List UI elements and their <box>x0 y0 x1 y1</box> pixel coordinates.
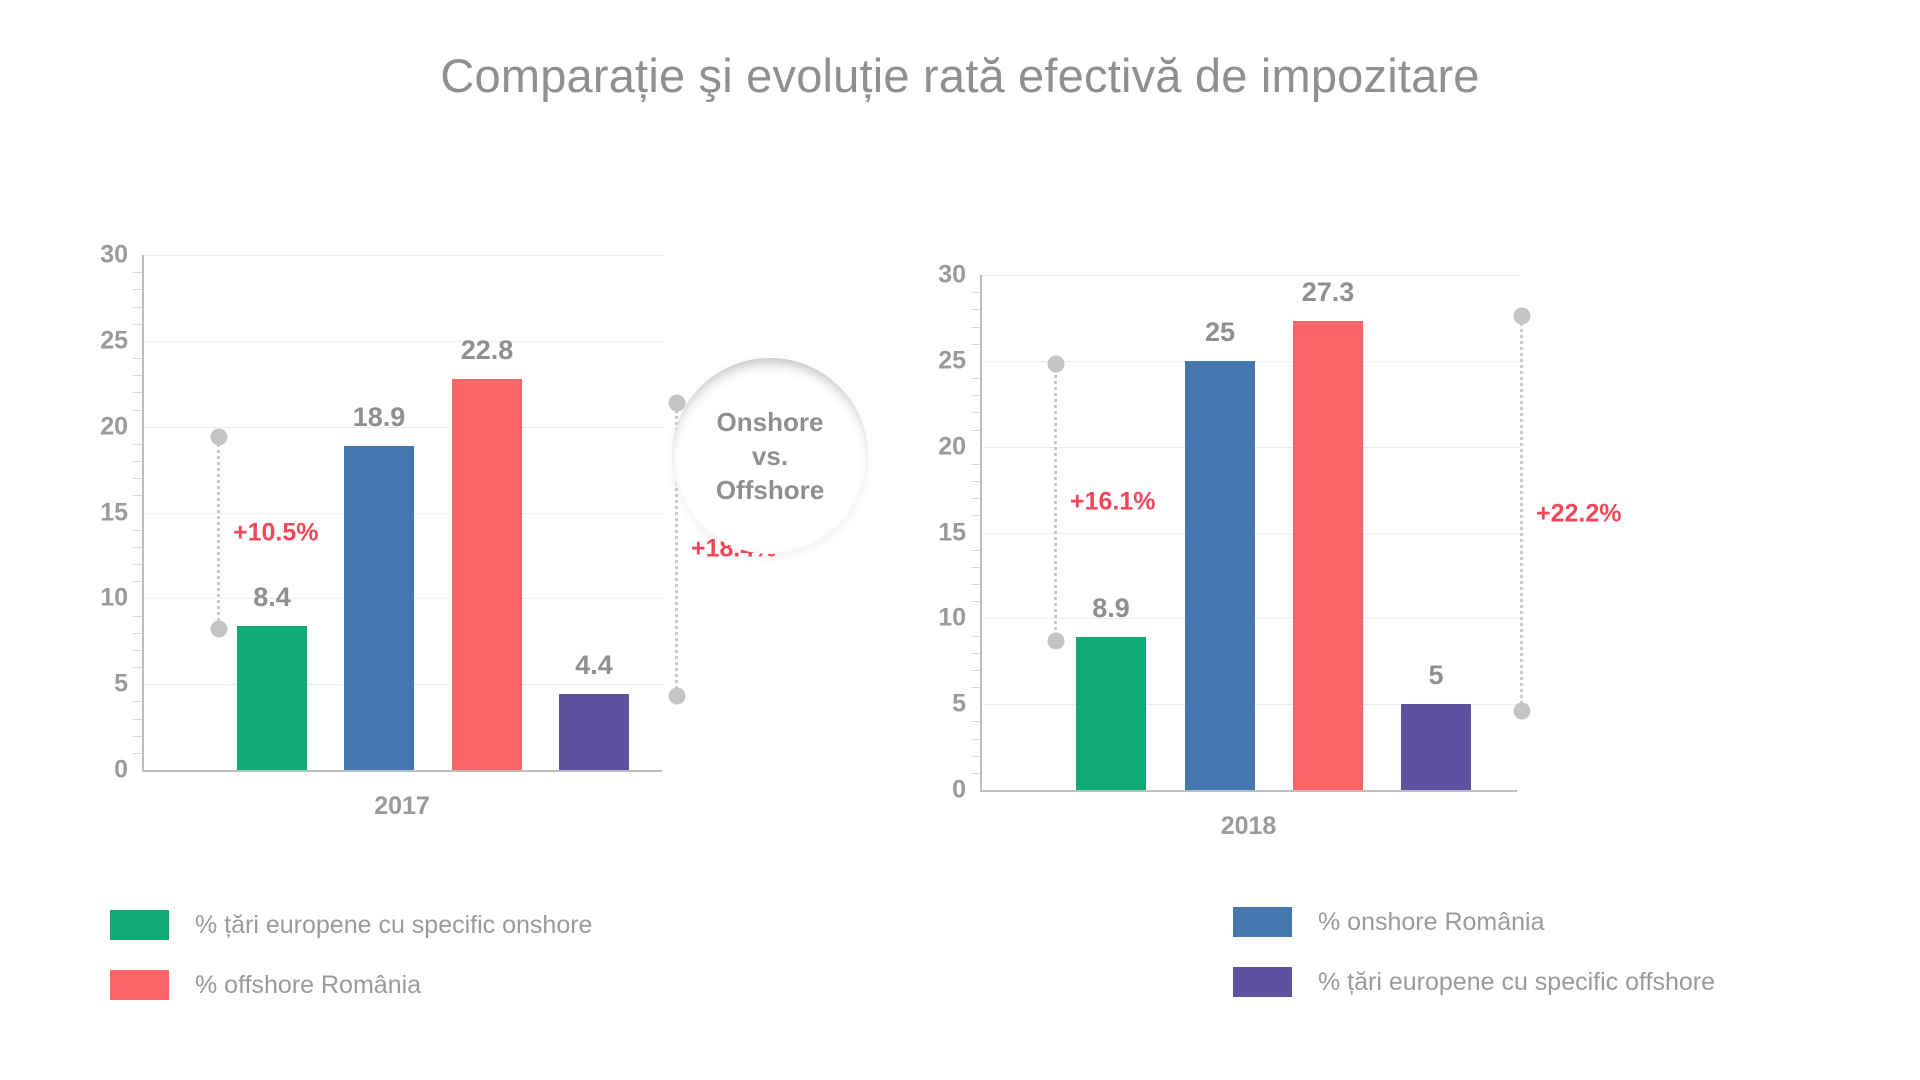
y-axis-minor-tick <box>133 495 142 496</box>
y-axis-minor-tick <box>133 564 142 565</box>
gridline <box>144 341 664 342</box>
y-axis-minor-tick <box>133 375 142 376</box>
gridline <box>144 255 664 256</box>
y-axis-tick-label: 10 <box>100 584 128 613</box>
y-axis-tick-label: 10 <box>938 604 966 633</box>
y-axis-minor-tick <box>133 530 142 531</box>
annotation-dot-1-top <box>210 428 227 445</box>
y-axis-minor-tick <box>133 633 142 634</box>
y-axis-minor-tick <box>133 650 142 651</box>
y-axis-tick-label: 20 <box>938 432 966 461</box>
y-axis-tick-label: 25 <box>938 346 966 375</box>
bar-2[interactable] <box>1185 361 1255 790</box>
badge-line-1: Onshore <box>717 405 824 439</box>
y-axis-minor-tick <box>971 327 980 328</box>
y-axis-minor-tick <box>971 687 980 688</box>
y-axis-minor-tick <box>133 444 142 445</box>
page-title: Comparație şi evoluție rată efectivă de … <box>0 48 1920 103</box>
legend-color-swatch <box>110 910 169 940</box>
y-axis-minor-tick <box>971 567 980 568</box>
annotation-dot-2-top <box>1513 308 1530 325</box>
y-axis-minor-tick <box>133 736 142 737</box>
annotation-dot-1-bottom <box>210 621 227 638</box>
annotation-connector-line-2 <box>1520 316 1523 711</box>
y-axis-minor-tick <box>971 739 980 740</box>
y-axis-minor-tick <box>133 324 142 325</box>
y-axis-minor-tick <box>971 653 980 654</box>
plot-area-2017 <box>142 255 662 770</box>
y-axis-minor-tick <box>133 701 142 702</box>
annotation-dot-2-top <box>668 394 685 411</box>
legend-item-label: % țări europene cu specific offshore <box>1318 968 1715 997</box>
gridline <box>982 275 1519 276</box>
bar-value-label-4: 5 <box>1428 660 1443 691</box>
x-axis-line <box>980 790 1517 792</box>
bar-1[interactable] <box>1076 637 1146 790</box>
x-axis-category-label: 2018 <box>980 812 1517 841</box>
y-axis-minor-tick <box>133 410 142 411</box>
bar-1[interactable] <box>237 626 307 770</box>
y-axis-minor-tick <box>971 344 980 345</box>
bar-4[interactable] <box>1401 704 1471 790</box>
legend-color-swatch <box>110 970 169 1000</box>
y-axis-minor-tick <box>971 498 980 499</box>
annotation-connector-line-1 <box>217 437 220 629</box>
y-axis-minor-tick <box>133 289 142 290</box>
annotation-dot-1-bottom <box>1047 632 1064 649</box>
bar-value-label-3: 27.3 <box>1302 277 1355 308</box>
x-axis-line <box>142 770 662 772</box>
legend-right: % onshore România% țări europene cu spec… <box>1233 905 1715 1025</box>
y-axis-minor-tick <box>971 515 980 516</box>
y-axis-minor-tick <box>971 430 980 431</box>
y-axis-minor-tick <box>971 464 980 465</box>
legend-item[interactable]: % onshore România <box>1233 905 1715 939</box>
legend-item[interactable]: % țări europene cu specific offshore <box>1233 965 1715 999</box>
bar-value-label-2: 18.9 <box>353 402 406 433</box>
legend-item[interactable]: % țări europene cu specific onshore <box>110 908 592 942</box>
y-axis-minor-tick <box>971 395 980 396</box>
y-axis-minor-tick <box>133 272 142 273</box>
y-axis-minor-tick <box>133 753 142 754</box>
bar-value-label-3: 22.8 <box>461 335 514 366</box>
y-axis-minor-tick <box>971 721 980 722</box>
y-axis-tick-label: 30 <box>100 241 128 270</box>
legend-item[interactable]: % offshore România <box>110 968 592 1002</box>
legend-item-label: % offshore România <box>195 971 421 1000</box>
y-axis-tick-label: 15 <box>938 518 966 547</box>
annotation-delta-label-1: +16.1% <box>1070 488 1156 517</box>
bar-value-label-4: 4.4 <box>575 650 613 681</box>
y-axis-tick-label: 0 <box>952 776 966 805</box>
y-axis-minor-tick <box>133 461 142 462</box>
legend-item-label: % țări europene cu specific onshore <box>195 911 592 940</box>
y-axis-minor-tick <box>971 550 980 551</box>
y-axis-minor-tick <box>133 392 142 393</box>
y-axis-tick-label: 5 <box>952 690 966 719</box>
y-axis-tick-label: 0 <box>114 756 128 785</box>
badge-line-2: vs. <box>752 439 788 473</box>
y-axis-tick-label: 5 <box>114 670 128 699</box>
y-axis-minor-tick <box>133 581 142 582</box>
bar-value-label-2: 25 <box>1205 317 1235 348</box>
x-axis-category-label: 2017 <box>142 792 662 821</box>
y-axis-tick-label: 20 <box>100 412 128 441</box>
y-axis-minor-tick <box>133 478 142 479</box>
annotation-dot-1-top <box>1047 356 1064 373</box>
y-axis-minor-tick <box>971 670 980 671</box>
plot-area-2018 <box>980 275 1517 790</box>
y-axis-minor-tick <box>971 481 980 482</box>
y-axis-minor-tick <box>971 601 980 602</box>
y-axis-minor-tick <box>133 307 142 308</box>
onshore-vs-offshore-badge: Onshore vs. Offshore <box>672 358 868 554</box>
legend-color-swatch <box>1233 907 1292 937</box>
legend-left: % țări europene cu specific onshore% off… <box>110 908 592 1028</box>
y-axis-minor-tick <box>133 358 142 359</box>
annotation-delta-label-2: +22.2% <box>1536 499 1622 528</box>
annotation-delta-label-1: +10.5% <box>233 519 319 548</box>
badge-line-3: Offshore <box>716 473 824 507</box>
y-axis-tick-label: 15 <box>100 498 128 527</box>
bar-3[interactable] <box>1293 321 1363 790</box>
y-axis-minor-tick <box>971 412 980 413</box>
bar-2[interactable] <box>344 446 414 770</box>
annotation-dot-2-bottom <box>1513 703 1530 720</box>
y-axis-minor-tick <box>971 636 980 637</box>
y-axis-minor-tick <box>971 378 980 379</box>
y-axis-minor-tick <box>133 719 142 720</box>
y-axis-minor-tick <box>971 773 980 774</box>
y-axis-minor-tick <box>133 616 142 617</box>
y-axis-minor-tick <box>971 309 980 310</box>
bar-4[interactable] <box>559 694 629 770</box>
annotation-dot-2-bottom <box>668 688 685 705</box>
y-axis-minor-tick <box>133 667 142 668</box>
chart-panel-2018: 0510152025308.92527.352018+16.1%+22.2% <box>900 210 1560 710</box>
legend-color-swatch <box>1233 967 1292 997</box>
y-axis-tick-label: 25 <box>100 326 128 355</box>
bar-3[interactable] <box>452 379 522 770</box>
bar-value-label-1: 8.4 <box>253 582 291 613</box>
chart-panel-2017: 0510152025308.418.922.84.42017+10.5%+18.… <box>30 190 670 690</box>
y-axis-minor-tick <box>133 547 142 548</box>
legend-item-label: % onshore România <box>1318 908 1545 937</box>
annotation-connector-line-1 <box>1054 364 1057 640</box>
y-axis-minor-tick <box>971 756 980 757</box>
y-axis-minor-tick <box>971 292 980 293</box>
y-axis-tick-label: 30 <box>938 261 966 290</box>
bar-value-label-1: 8.9 <box>1092 593 1130 624</box>
y-axis-minor-tick <box>971 584 980 585</box>
